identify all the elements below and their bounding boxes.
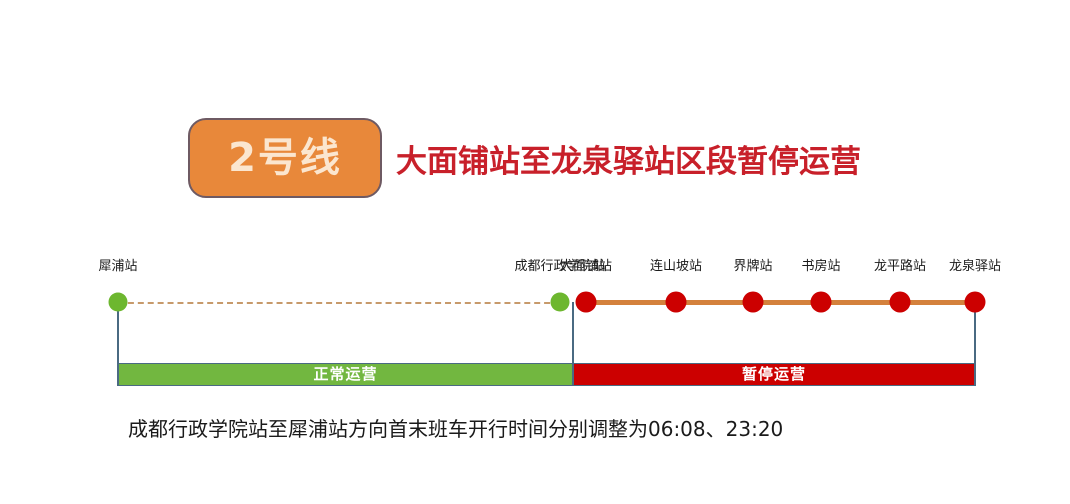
station-label: 界牌站 [733,259,772,275]
station-dot [551,293,570,312]
station-dot [890,292,911,313]
status-bar-normal-label: 正常运营 [313,367,377,382]
status-bar-suspended-label: 暂停运营 [742,367,806,382]
station-dot [576,292,597,313]
station-label: 犀浦站 [98,259,137,275]
status-bar-suspended: 暂停运营 [573,363,975,386]
footnote-text: 成都行政学院站至犀浦站方向首末班车开行时间分别调整为06:08、23:20 [128,415,783,443]
route-segment-suspended [586,300,975,305]
station-label: 龙泉驿站 [949,259,1001,275]
station-label: 龙平路站 [874,259,926,275]
station-dot [811,292,832,313]
station-dot [743,292,764,313]
station-label: 书房站 [801,259,840,275]
station-label: 大面铺站 [560,259,612,275]
station-dot [109,293,128,312]
notice-canvas: 2号线 大面铺站至龙泉驿站区段暂停运营 犀浦站成都行政学院站大面铺站连山坡站界牌… [0,0,1070,504]
station-dot [965,292,986,313]
status-bar-normal: 正常运营 [118,363,573,386]
station-label: 连山坡站 [650,259,702,275]
route-segment-dashed [118,302,560,304]
station-dot [666,292,687,313]
